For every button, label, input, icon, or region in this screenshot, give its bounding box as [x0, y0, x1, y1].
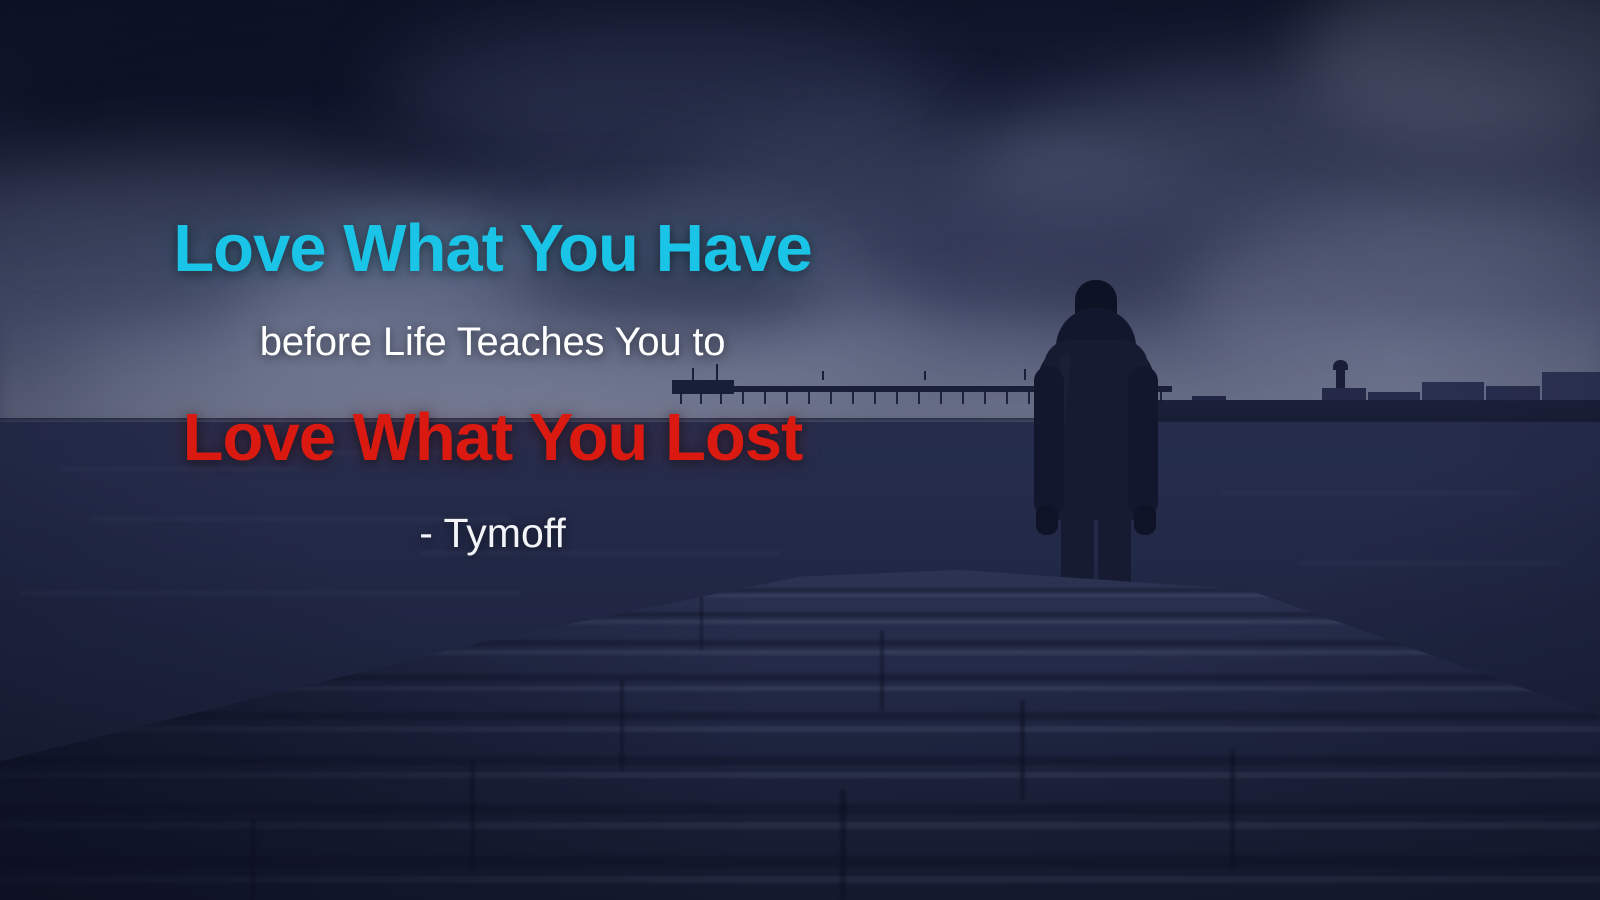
left-hand: [1036, 505, 1058, 535]
distant-town: [1140, 330, 1600, 422]
quote-line-1: Love What You Have: [173, 214, 812, 284]
quote-image-canvas: Love What You Have before Life Teaches Y…: [0, 0, 1600, 900]
cloud-mass: [980, 60, 1600, 310]
quote-attribution: - Tymoff: [419, 510, 566, 557]
quote-line-3: Love What You Lost: [183, 403, 803, 473]
cloud-mass: [1300, 0, 1600, 140]
right-arm: [1128, 366, 1158, 518]
quote-block: Love What You Have before Life Teaches Y…: [0, 0, 985, 900]
left-arm: [1034, 366, 1064, 518]
right-hand: [1134, 505, 1156, 535]
quote-line-2: before Life Teaches You to: [260, 320, 726, 365]
person-silhouette: [1020, 280, 1170, 625]
